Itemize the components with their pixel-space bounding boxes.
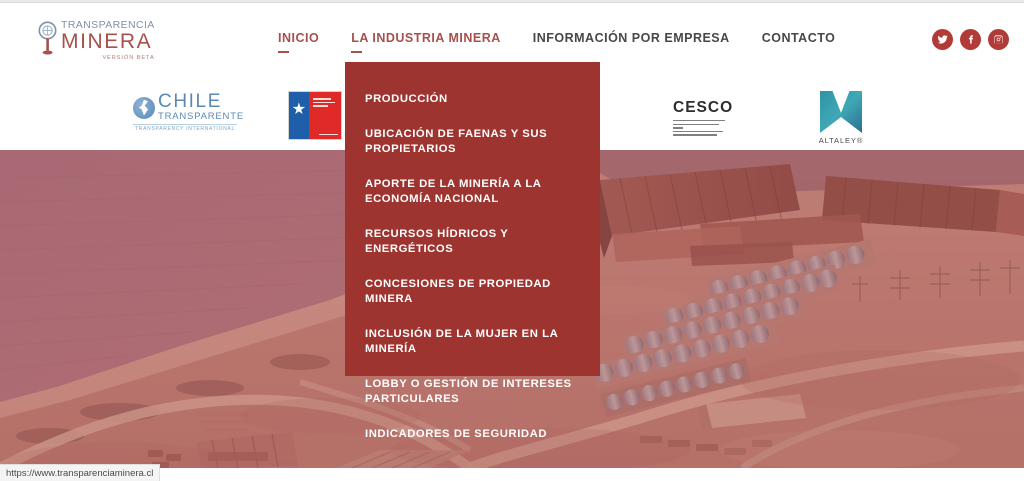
dropdown-item-ubicacion-faenas[interactable]: UBICACIÓN DE FAENAS Y SUS PROPIETARIOS	[365, 127, 580, 158]
facebook-button[interactable]	[960, 29, 981, 50]
twitter-button[interactable]	[932, 29, 953, 50]
dropdown-item-inclusion-mujer[interactable]: INCLUSIÓN DE LA MUJER EN LA MINERÍA	[365, 327, 580, 358]
cesco-tagline-lines	[673, 120, 765, 136]
chile-star-icon	[292, 102, 305, 115]
main-navigation: INICIO LA INDUSTRIA MINERA INFORMACIÓN P…	[278, 31, 835, 54]
gobierno-de-chile-logo	[288, 91, 342, 140]
ministry-footer-line	[319, 134, 338, 136]
dropdown-item-indicadores-seguridad[interactable]: INDICADORES DE SEGURIDAD	[365, 427, 580, 443]
dropdown-item-concesiones[interactable]: CONCESIONES DE PROPIEDAD MINERA	[365, 277, 580, 308]
site-logo[interactable]: TRANSPARENCIA MINERA VERSIÓN BETA	[38, 19, 158, 61]
chile-transparente-line3: TRANSPARENCY INTERNATIONAL	[133, 124, 237, 133]
altaley-logo: ALTALEY®	[818, 91, 864, 145]
logo-subtitle: VERSIÓN BETA	[61, 54, 155, 62]
nav-item-la-industria-minera[interactable]: LA INDUSTRIA MINERA	[351, 31, 501, 54]
instagram-icon	[993, 34, 1004, 45]
cesco-wordmark: CESCO	[673, 99, 765, 116]
nav-item-contacto[interactable]: CONTACTO	[762, 31, 836, 54]
chile-transparente-logo: CHILE TRANSPARENTE TRANSPARENCY INTERNAT…	[133, 93, 237, 133]
industria-minera-dropdown: PRODUCCIÓN UBICACIÓN DE FAENAS Y SUS PRO…	[345, 62, 600, 376]
chile-transparente-line2: TRANSPARENTE	[158, 111, 244, 122]
status-bar-url: https://www.transparenciaminera.cl	[6, 468, 153, 479]
browser-status-bar: https://www.transparenciaminera.cl	[0, 464, 160, 481]
chile-transparente-line1: CHILE	[158, 93, 244, 111]
altaley-wordmark: ALTALEY®	[818, 136, 864, 145]
twitter-icon	[937, 34, 948, 45]
page-root: TRANSPARENCIA MINERA VERSIÓN BETA INICIO…	[0, 0, 1024, 481]
nav-item-inicio[interactable]: INICIO	[278, 31, 319, 54]
altaley-chevron-icon	[820, 91, 862, 133]
dropdown-item-aporte-economia[interactable]: APORTE DE LA MINERÍA A LA ECONOMÍA NACIO…	[365, 177, 580, 208]
ministry-text-lines	[313, 98, 338, 109]
logo-main-word: MINERA	[61, 31, 155, 53]
cesco-logo: CESCO	[673, 99, 765, 138]
nav-item-informacion-por-empresa[interactable]: INFORMACIÓN POR EMPRESA	[533, 31, 730, 54]
magnifier-logo-icon	[38, 21, 59, 55]
social-links	[932, 29, 1009, 50]
dropdown-item-produccion[interactable]: PRODUCCIÓN	[365, 92, 580, 108]
instagram-button[interactable]	[988, 29, 1009, 50]
dropdown-item-lobby[interactable]: LOBBY O GESTIÓN DE INTERESES PARTICULARE…	[365, 377, 580, 408]
chile-transparente-globe-icon	[133, 97, 155, 119]
dropdown-item-recursos-hidricos[interactable]: RECURSOS HÍDRICOS Y ENERGÉTICOS	[365, 227, 580, 258]
facebook-icon	[965, 34, 976, 45]
